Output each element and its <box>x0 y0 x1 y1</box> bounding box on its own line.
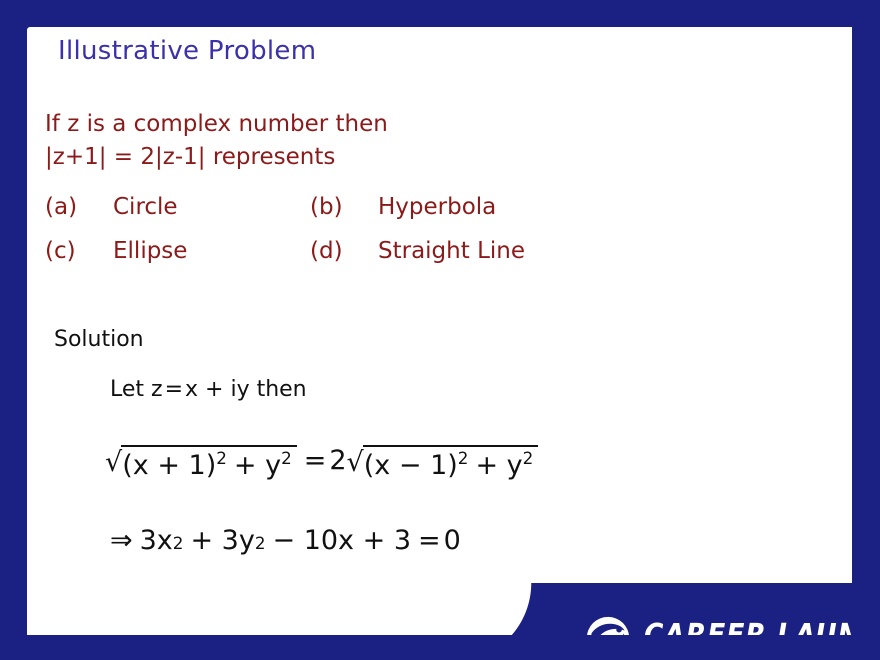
solution-heading: Solution <box>54 327 144 352</box>
content-card: Illustrative Problem If z is a complex n… <box>27 27 852 635</box>
brand-logo: CAREER LAUNCHER <box>585 615 852 635</box>
let-rhs: x + iy then <box>185 377 307 402</box>
page-title: Illustrative Problem <box>58 36 316 66</box>
option-c[interactable]: (c) Ellipse <box>45 238 310 264</box>
radicand-left-exponent: 2 <box>216 448 227 468</box>
expanded-term-3: − 10x + 3 <box>272 525 411 556</box>
radical-sign-left-icon: √ <box>105 447 122 478</box>
equation-relation: = <box>304 445 327 476</box>
option-a[interactable]: (a) Circle <box>45 194 310 220</box>
option-d-text: Straight Line <box>378 238 525 264</box>
slide: Illustrative Problem If z is a complex n… <box>0 0 880 660</box>
implies-arrow-icon: ⇒ <box>110 525 133 556</box>
radical-right: √ (x − 1)2+ y2 <box>347 445 539 481</box>
brand-name: CAREER LAUNCHER <box>644 620 852 635</box>
equation-expanded: ⇒3x2+ 3y2− 10x + 3=0 <box>110 525 461 556</box>
expanded-term-2: + 3y <box>190 525 254 556</box>
options-row-2: (c) Ellipse (d) Straight Line <box>45 229 645 273</box>
option-b-label: (b) <box>310 194 378 220</box>
equation-radical: √ (x + 1)2+ y2 = 2 √ (x − 1)2+ y2 <box>105 445 538 481</box>
radicand-left: (x + 1)2+ y2 <box>121 445 297 481</box>
career-launcher-swoosh-icon <box>585 615 631 635</box>
expanded-term-1: 3x <box>140 525 173 556</box>
option-b[interactable]: (b) Hyperbola <box>310 194 496 220</box>
radicand-right-base: (x − 1) <box>364 450 458 481</box>
radicand-right-ysum: + y <box>475 450 522 481</box>
option-c-text: Ellipse <box>113 238 187 264</box>
radicand-right-exponent: 2 <box>458 448 469 468</box>
options-list: (a) Circle (b) Hyperbola (c) Ellipse (d)… <box>45 185 645 273</box>
radicand-left-y-exponent: 2 <box>281 448 292 468</box>
option-d[interactable]: (d) Straight Line <box>310 238 525 264</box>
expanded-rhs: 0 <box>444 525 461 556</box>
options-row-1: (a) Circle (b) Hyperbola <box>45 185 645 229</box>
option-a-text: Circle <box>113 194 178 220</box>
footer-curve-decoration <box>452 583 532 635</box>
radical-left: √ (x + 1)2+ y2 <box>105 445 297 481</box>
solution-let-line: Let z=x + iy then <box>110 377 307 402</box>
radicand-left-ysum: + y <box>234 450 281 481</box>
let-equals: = <box>165 377 183 402</box>
radicand-left-base: (x + 1) <box>122 450 216 481</box>
let-lead: Let z <box>110 377 163 402</box>
question-text: If z is a complex number then |z+1| = 2|… <box>45 108 388 174</box>
equation-coefficient: 2 <box>329 445 346 476</box>
option-a-label: (a) <box>45 194 113 220</box>
radicand-right: (x − 1)2+ y2 <box>363 445 539 481</box>
option-b-text: Hyperbola <box>378 194 496 220</box>
radicand-right-y-exponent: 2 <box>523 448 534 468</box>
option-d-label: (d) <box>310 238 378 264</box>
expanded-relation: = <box>418 525 441 556</box>
brand-text-wrap: CAREER LAUNCHER <box>644 620 852 635</box>
radical-sign-right-icon: √ <box>347 447 364 478</box>
option-c-label: (c) <box>45 238 113 264</box>
